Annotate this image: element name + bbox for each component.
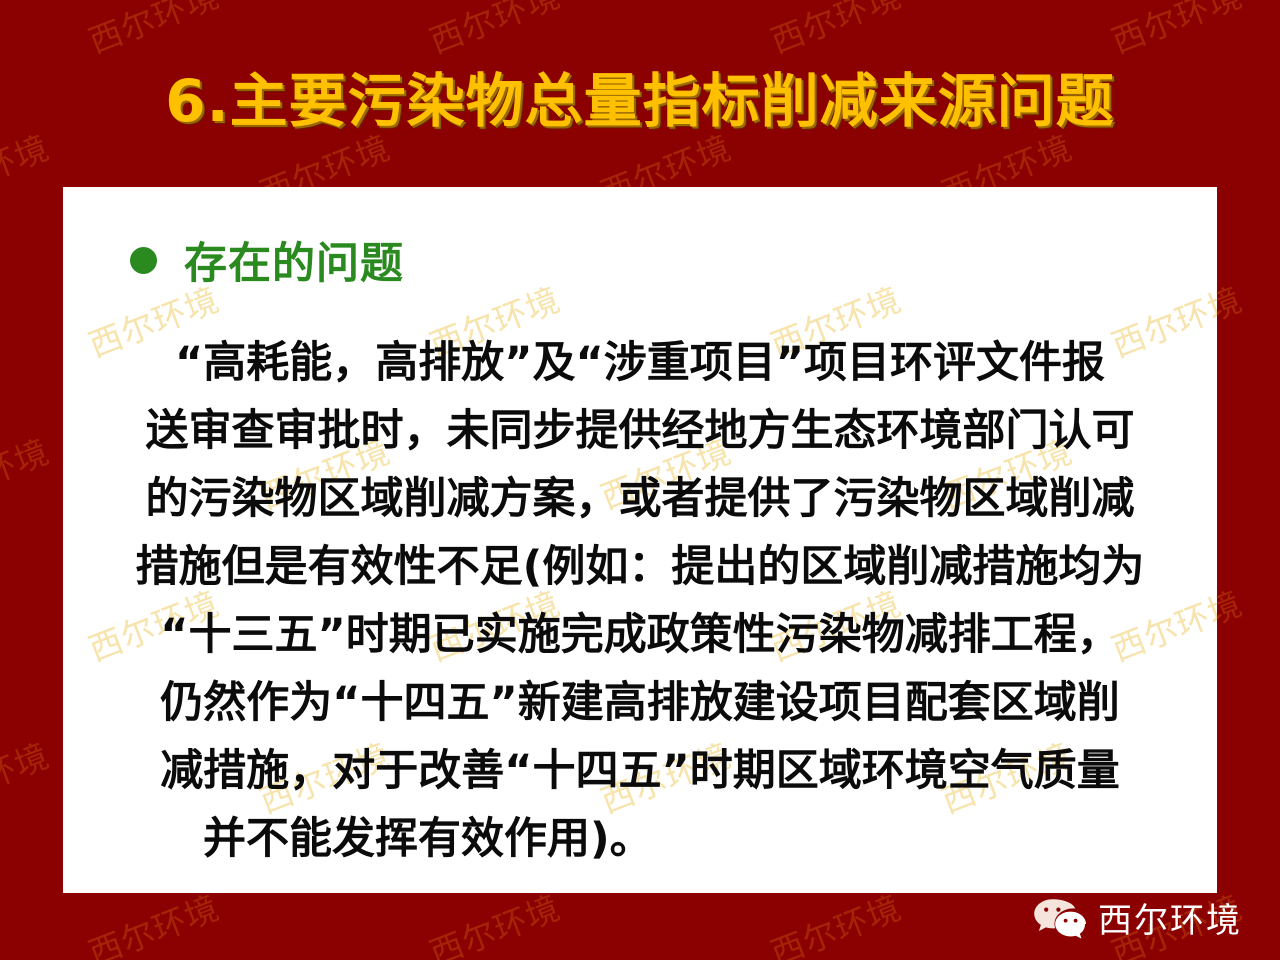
- body-line: 的污染物区域削减方案，或者提供了污染物区域削减: [81, 465, 1199, 533]
- watermark-text: 西尔环境: [1104, 881, 1217, 893]
- slide-root: 西尔环境西尔环境西尔环境西尔环境西尔环境西尔环境西尔环境西尔环境西尔环境西尔环境…: [0, 0, 1280, 960]
- bullet-dot-icon: [130, 247, 157, 274]
- body-line: 并不能发挥有效作用)。: [81, 805, 1199, 873]
- body-line: 措施但是有效性不足(例如：提出的区域削减措施均为: [81, 533, 1199, 601]
- watermark-text: 西尔环境: [763, 881, 907, 960]
- page-title: 6.主要污染物总量指标削减来源问题: [165, 54, 1114, 138]
- bullet-heading-label: 存在的问题: [184, 229, 404, 291]
- footer-logo: 西尔环境: [1033, 893, 1242, 942]
- wechat-icon: [1033, 897, 1087, 939]
- body-line: 送审查审批时，未同步提供经地方生态环境部门认可: [81, 397, 1199, 465]
- bullet-heading: 存在的问题: [130, 229, 404, 291]
- watermark-text: 西尔环境: [1275, 425, 1280, 519]
- watermark-text: 西尔环境: [422, 881, 566, 893]
- watermark-text: 西尔环境: [1275, 729, 1280, 823]
- watermark-text: 西尔环境: [81, 881, 225, 960]
- body-paragraph: “高耗能，高排放”及“涉重项目”项目环评文件报送审查审批时，未同步提供经地方生态…: [81, 329, 1199, 873]
- title-bar: 6.主要污染物总量指标削减来源问题: [0, 46, 1280, 146]
- watermark-text: 西尔环境: [81, 881, 225, 893]
- watermark-text: 西尔环境: [0, 425, 55, 519]
- watermark-text: 西尔环境: [422, 881, 566, 960]
- body-line: “高耗能，高排放”及“涉重项目”项目环评文件报: [81, 329, 1199, 397]
- watermark-text: 西尔环境: [763, 881, 907, 893]
- content-card: 西尔环境西尔环境西尔环境西尔环境西尔环境西尔环境西尔环境西尔环境西尔环境西尔环境…: [63, 187, 1217, 893]
- body-line: “十三五”时期已实施完成政策性污染物减排工程，: [81, 601, 1199, 669]
- body-line: 仍然作为“十四五”新建高排放建设项目配套区域削: [81, 669, 1199, 737]
- footer-logo-label: 西尔环境: [1098, 893, 1242, 942]
- watermark-text: 西尔环境: [0, 729, 55, 823]
- body-line: 减措施，对于改善“十四五”时期区域环境空气质量: [81, 737, 1199, 805]
